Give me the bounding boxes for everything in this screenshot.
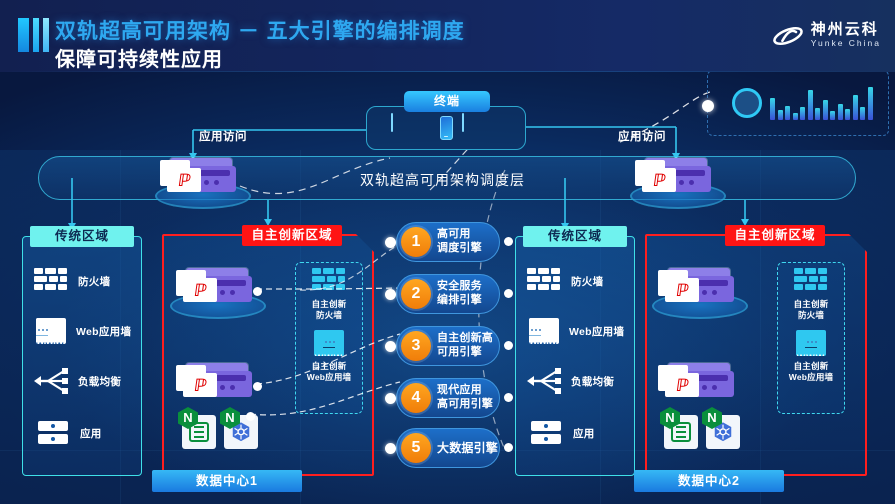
kpi-dashboard-panel [707, 70, 889, 136]
zone-innovation-label-dc2: 自主创新区域 [725, 225, 825, 246]
firewall-brick-icon [34, 268, 68, 294]
zone-item-firewall-dc1: 防火墙 [34, 268, 110, 294]
web-app-wall-icon: WWW [529, 318, 559, 344]
engine-label-line1: 高可用 [437, 228, 471, 240]
title-accent-bars [18, 18, 49, 52]
zone-item-firewall-dc2: 防火墙 [527, 268, 603, 294]
nginx-icon: N [664, 415, 698, 449]
server-stack-icon: ℙ [160, 158, 238, 198]
bar-chart-icon [770, 86, 873, 120]
zone-innovation-label-dc1: 自主创新区域 [242, 225, 342, 246]
engine-right-dot [504, 237, 513, 246]
firewall-brick-icon [794, 268, 828, 294]
terminal-devices-box [366, 106, 526, 150]
zone-item-label: 应用 [80, 426, 102, 441]
engine-connector-knob [385, 393, 396, 404]
kpi-bar [845, 109, 850, 120]
engine-right-dot [504, 443, 513, 452]
kpi-bar [838, 104, 843, 120]
server-stack-icon: ℙ [658, 268, 736, 308]
kpi-bar [853, 95, 858, 120]
engine-label: 自主创新高 可用引擎 [437, 332, 493, 360]
engine-label: 现代应用 高可用引擎 [437, 384, 493, 412]
laptop-icon [462, 114, 502, 142]
kpi-bar [808, 90, 813, 120]
kpi-bar [830, 111, 835, 120]
firewall-brick-icon [527, 268, 561, 294]
engine-4[interactable]: 4 现代应用 高可用引擎 [396, 378, 500, 418]
engine-right-dot [504, 341, 513, 350]
engine-label: 大数据引擎 [437, 441, 498, 456]
kpi-bar [860, 107, 865, 120]
server-stack-icon: ℙ [635, 158, 713, 198]
server-app-icon [529, 420, 563, 446]
kubernetes-icon: N [706, 415, 740, 449]
subzone-web-wall-dc2: WWW 自主创新 Web应用墙 [781, 330, 841, 382]
zone-item-label: 负载均衡 [571, 374, 614, 389]
subzone-caption-line1: 自主创新 [781, 299, 841, 310]
page-subtitle: 保障可持续性应用 [55, 43, 223, 72]
engine-label-line1: 现代应用 [437, 384, 482, 396]
kpi-bar [815, 108, 820, 120]
engine-right-dot [504, 393, 513, 402]
slide-canvas: 双轨超高可用架构 － 五大引擎的编排调度 保障可持续性应用 神州云科 Yunke… [0, 0, 895, 504]
kpi-bar [793, 113, 798, 120]
zone-item-application-dc1: 应用 [36, 420, 102, 446]
kpi-bar [868, 87, 873, 120]
zone-traditional-label-dc1: 传统区域 [30, 226, 134, 247]
zone-item-label: 防火墙 [571, 274, 603, 289]
slide-header: 双轨超高可用架构 － 五大引擎的编排调度 保障可持续性应用 神州云科 Yunke… [0, 0, 895, 72]
kpi-bar [785, 106, 790, 120]
server-app-icon [36, 420, 70, 446]
donut-chart-icon [732, 88, 762, 118]
access-label-right: 应用访问 [618, 128, 666, 144]
engine-label-line2: 编排引擎 [437, 294, 482, 306]
zone-item-load-balancer-dc2: 负载均衡 [527, 368, 614, 394]
engine-connector-knob [385, 237, 396, 248]
engine-3[interactable]: 3 自主创新高 可用引擎 [396, 326, 500, 366]
datacenter-label-2: 数据中心2 [634, 470, 784, 492]
engine-right-dot [504, 289, 513, 298]
kpi-bar [770, 98, 775, 120]
brand-name-cn: 神州云科 [811, 22, 881, 38]
engine-label: 高可用 调度引擎 [437, 228, 482, 256]
subzone-caption-line1: 自主创新 [781, 361, 841, 372]
subzone-caption-line2: 防火墙 [781, 310, 841, 321]
kpi-bar [823, 100, 828, 120]
engine-2[interactable]: 2 安全服务 编排引擎 [396, 274, 500, 314]
server-stack-icon: ℙ [658, 363, 736, 403]
dc1-engine-dashed-links [240, 230, 420, 440]
nginx-icon: N [182, 415, 216, 449]
page-title: 双轨超高可用架构 － 五大引擎的编排调度 [55, 15, 465, 45]
load-balancer-icon [34, 368, 68, 394]
kpi-bar [800, 107, 805, 120]
laptop-icon [391, 114, 431, 142]
zone-item-label: 负载均衡 [78, 374, 121, 389]
engine-1[interactable]: 1 高可用 调度引擎 [396, 222, 500, 262]
accent-bar-2 [33, 18, 39, 52]
accent-bar-1 [18, 18, 29, 52]
kpi-connector-dot [702, 100, 714, 112]
engine-connector-knob [385, 341, 396, 352]
engine-label: 安全服务 编排引擎 [437, 280, 482, 308]
scheduling-layer-title: 双轨超高可用架构调度层 [360, 170, 525, 190]
web-app-wall-icon: WWW [36, 318, 66, 344]
engine-5[interactable]: 5 大数据引擎 [396, 428, 500, 468]
engine-label-line2: 高可用引擎 [437, 398, 493, 410]
engine-label-line1: 自主创新高 [437, 332, 493, 344]
brand-logo: 神州云科 Yunke China [772, 22, 881, 50]
terminal-label: 终端 [404, 91, 490, 112]
engine-connector-knob [385, 289, 396, 300]
access-label-left: 应用访问 [199, 128, 247, 144]
brand-name-en: Yunke China [811, 38, 881, 50]
web-app-wall-icon: WWW [796, 330, 826, 356]
connector-dot [253, 287, 262, 296]
swirl-logo-icon [772, 22, 804, 50]
subzone-caption-line2: Web应用墙 [781, 372, 841, 383]
zone-item-web-wall-dc2: WWW Web应用墙 [529, 318, 624, 344]
kpi-bar [778, 110, 783, 120]
zone-item-load-balancer-dc1: 负载均衡 [34, 368, 121, 394]
datacenter-label-1: 数据中心1 [152, 470, 302, 492]
zone-item-label: Web应用墙 [569, 324, 624, 339]
zone-item-label: 应用 [573, 426, 595, 441]
engine-label-line1: 安全服务 [437, 280, 482, 292]
zone-item-label: 防火墙 [78, 274, 110, 289]
engine-number: 4 [401, 383, 431, 413]
engine-connector-knob [385, 443, 396, 454]
engine-number: 2 [401, 279, 431, 309]
zone-item-application-dc2: 应用 [529, 420, 595, 446]
engine-number: 5 [401, 433, 431, 463]
zone-item-label: Web应用墙 [76, 324, 131, 339]
zone-traditional-label-dc2: 传统区域 [523, 226, 627, 247]
zone-item-web-wall-dc1: WWW Web应用墙 [36, 318, 131, 344]
engine-number: 1 [401, 227, 431, 257]
accent-bar-3 [43, 18, 49, 52]
engine-number: 3 [401, 331, 431, 361]
load-balancer-icon [527, 368, 561, 394]
subzone-firewall-dc2: 自主创新 防火墙 [781, 268, 841, 320]
engine-label-line2: 调度引擎 [437, 242, 482, 254]
connector-dot [253, 382, 262, 391]
connector-dot [246, 412, 255, 421]
engine-label-line2: 可用引擎 [437, 346, 482, 358]
phone-icon [440, 116, 453, 140]
